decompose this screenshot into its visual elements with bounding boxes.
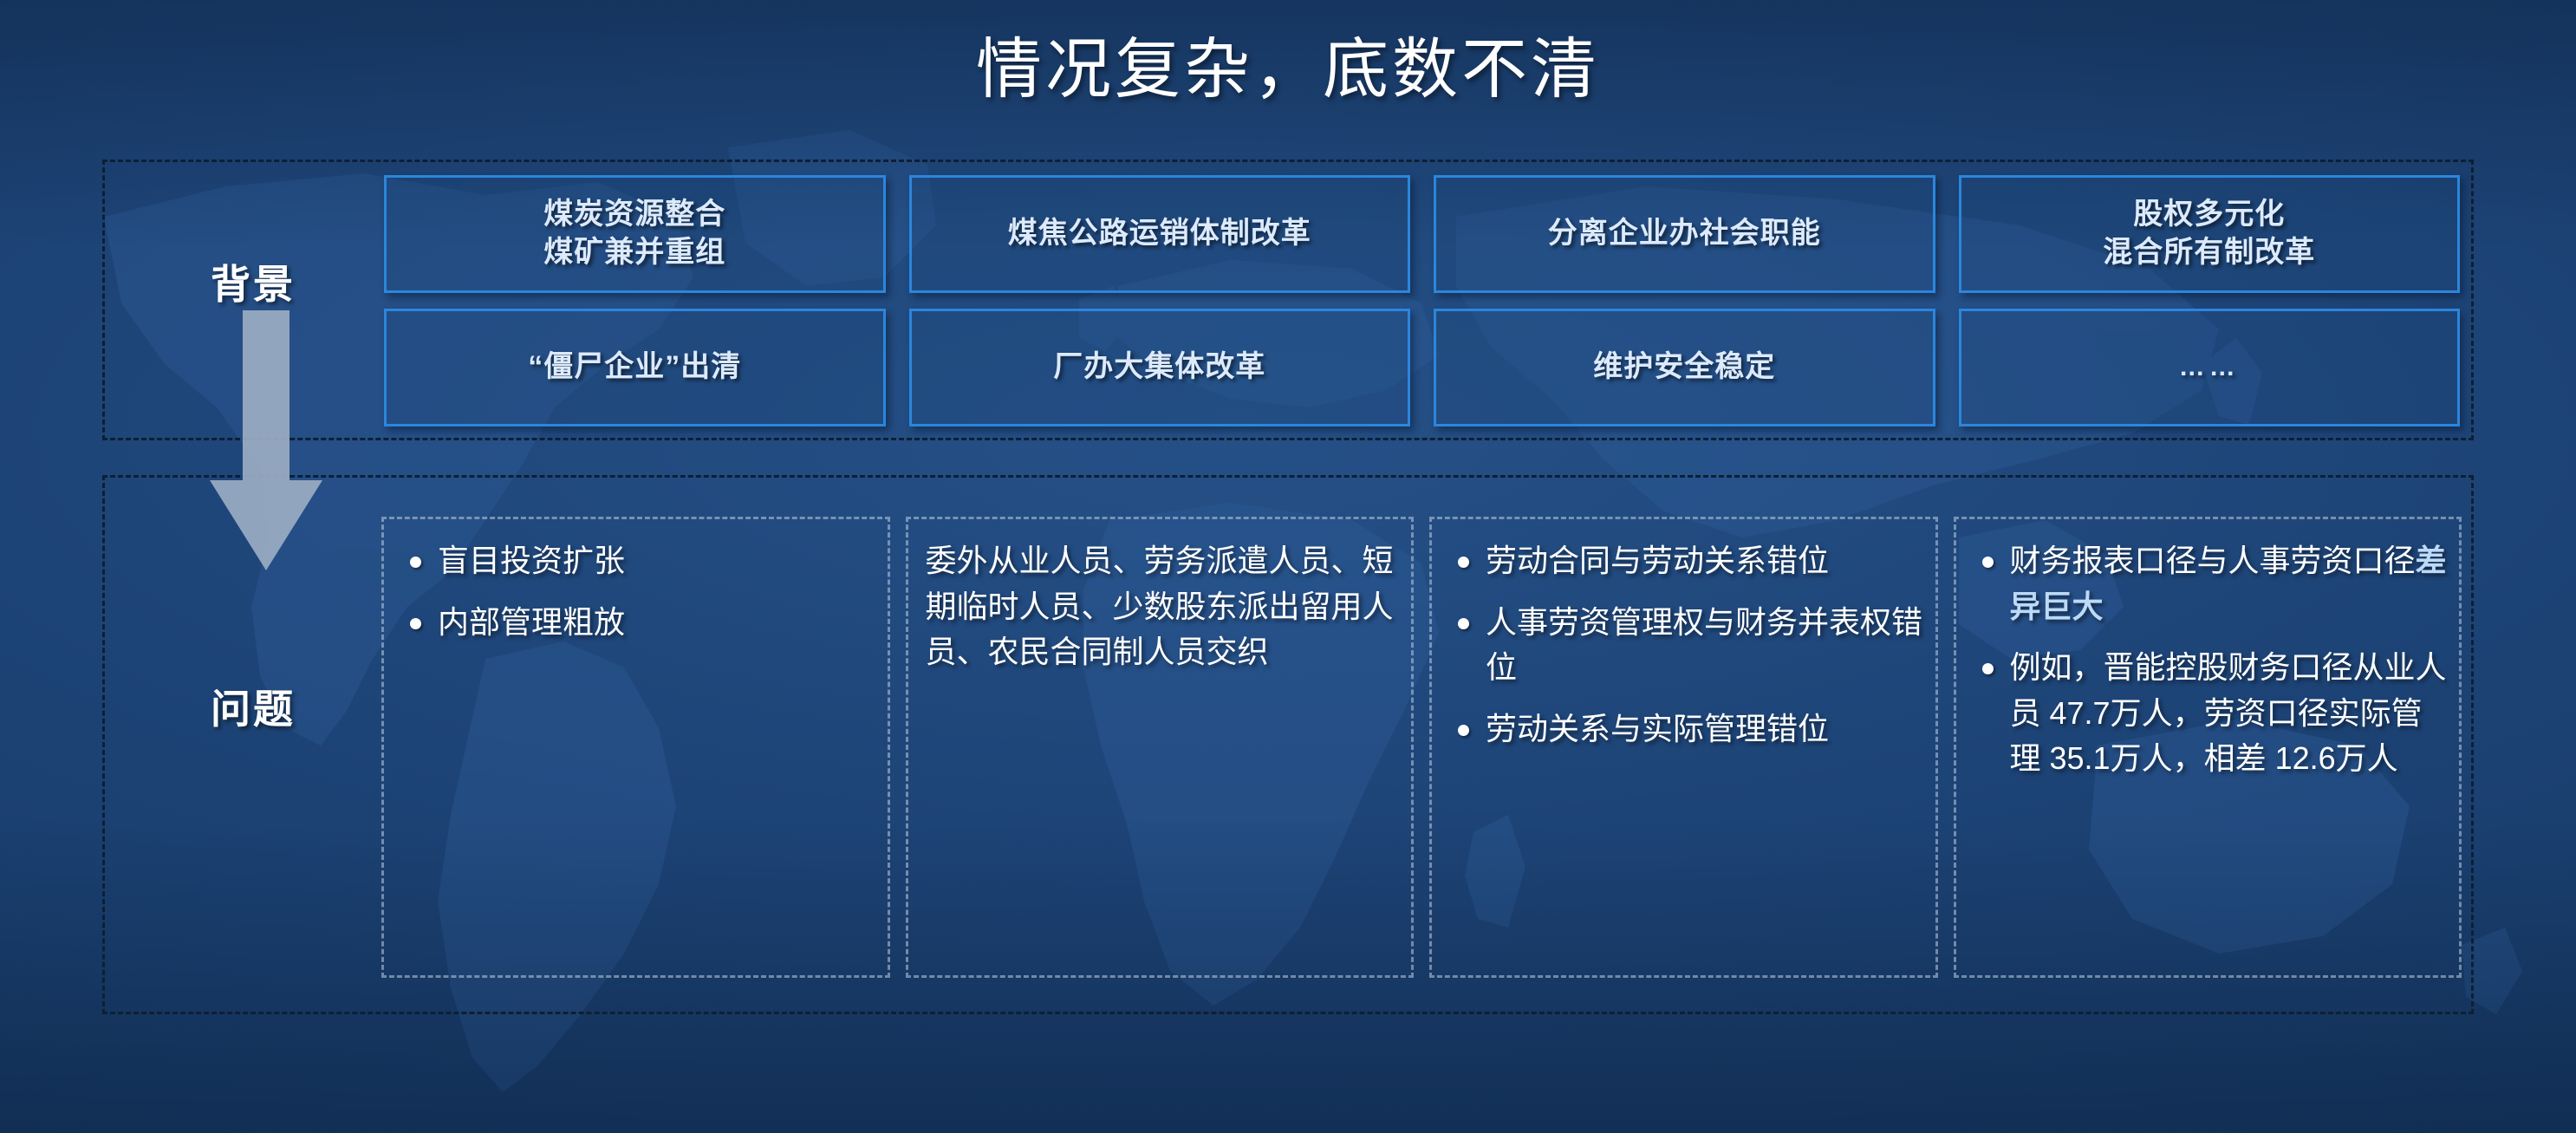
- background-card[interactable]: 维护安全稳定: [1434, 309, 1935, 427]
- problem-column-4: 财务报表口径与人事劳资口径差异巨大 例如，晋能控股财务口径从业人员 47.7万人…: [1954, 517, 2462, 978]
- problem-column-2: 委外从业人员、劳务派遣人员、短期临时人员、少数股东派出留用人员、农民合同制人员交…: [906, 517, 1415, 978]
- list-item-text: 财务报表口径与人事劳资口径: [2010, 543, 2416, 578]
- card-line-1: ……: [2179, 351, 2240, 384]
- problem-column-1: 盲目投资扩张 内部管理粗放: [381, 517, 890, 978]
- list-item: 财务报表口径与人事劳资口径差异巨大: [1961, 538, 2451, 629]
- background-card[interactable]: 股权多元化 混合所有制改革: [1959, 175, 2461, 293]
- bullet-list: 劳动合同与劳动关系错位 人事劳资管理权与财务并表权错位 劳动关系与实际管理错位: [1437, 538, 1927, 752]
- list-item: 盲目投资扩张: [389, 538, 879, 584]
- list-item: 内部管理粗放: [389, 600, 879, 646]
- list-item-text: 例如，晋能控股财务口径从业人员 47.7万人，劳资口径实际管理 35.1万人，相…: [2010, 649, 2447, 776]
- page-title: 情况复杂，底数不清: [0, 16, 2576, 111]
- card-line-1: “僵尸企业”出清: [528, 348, 741, 387]
- background-card[interactable]: 分离企业办社会职能: [1434, 175, 1935, 293]
- card-line-2: 煤矿兼并重组: [543, 234, 725, 272]
- problem-section-label: 问题: [211, 678, 296, 735]
- background-card[interactable]: 煤炭资源整合 煤矿兼并重组: [384, 175, 886, 293]
- list-item: 例如，晋能控股财务口径从业人员 47.7万人，劳资口径实际管理 35.1万人，相…: [1961, 645, 2451, 782]
- card-line-1: 煤炭资源整合: [543, 196, 725, 234]
- list-item: 人事劳资管理权与财务并表权错位: [1437, 600, 1927, 691]
- bullet-list: 盲目投资扩张 内部管理粗放: [389, 538, 879, 645]
- bullet-list: 财务报表口径与人事劳资口径差异巨大 例如，晋能控股财务口径从业人员 47.7万人…: [1961, 538, 2451, 782]
- problem-column-3: 劳动合同与劳动关系错位 人事劳资管理权与财务并表权错位 劳动关系与实际管理错位: [1429, 517, 1938, 978]
- paragraph-text: 委外从业人员、劳务派遣人员、短期临时人员、少数股东派出留用人员、农民合同制人员交…: [914, 538, 1403, 675]
- down-arrow-icon: [210, 310, 322, 570]
- list-item: 劳动合同与劳动关系错位: [1437, 538, 1927, 584]
- card-line-2: 混合所有制改革: [2103, 234, 2315, 272]
- card-line-1: 煤焦公路运销体制改革: [1008, 215, 1311, 253]
- card-line-1: 股权多元化: [2133, 196, 2285, 234]
- background-card[interactable]: ……: [1959, 309, 2461, 427]
- background-card[interactable]: 煤焦公路运销体制改革: [909, 175, 1411, 293]
- background-card[interactable]: 厂办大集体改革: [909, 309, 1411, 427]
- card-line-1: 分离企业办社会职能: [1548, 215, 1821, 253]
- problem-columns-grid: 盲目投资扩张 内部管理粗放 委外从业人员、劳务派遣人员、短期临时人员、少数股东派…: [381, 517, 2462, 978]
- card-line-1: 厂办大集体改革: [1053, 348, 1265, 387]
- background-cards-grid: 煤炭资源整合 煤矿兼并重组 煤焦公路运销体制改革 分离企业办社会职能 股权多元化…: [384, 175, 2460, 427]
- background-section-label: 背景: [211, 253, 296, 310]
- background-card[interactable]: “僵尸企业”出清: [384, 309, 886, 427]
- list-item: 劳动关系与实际管理错位: [1437, 706, 1927, 752]
- card-line-1: 维护安全稳定: [1593, 348, 1775, 387]
